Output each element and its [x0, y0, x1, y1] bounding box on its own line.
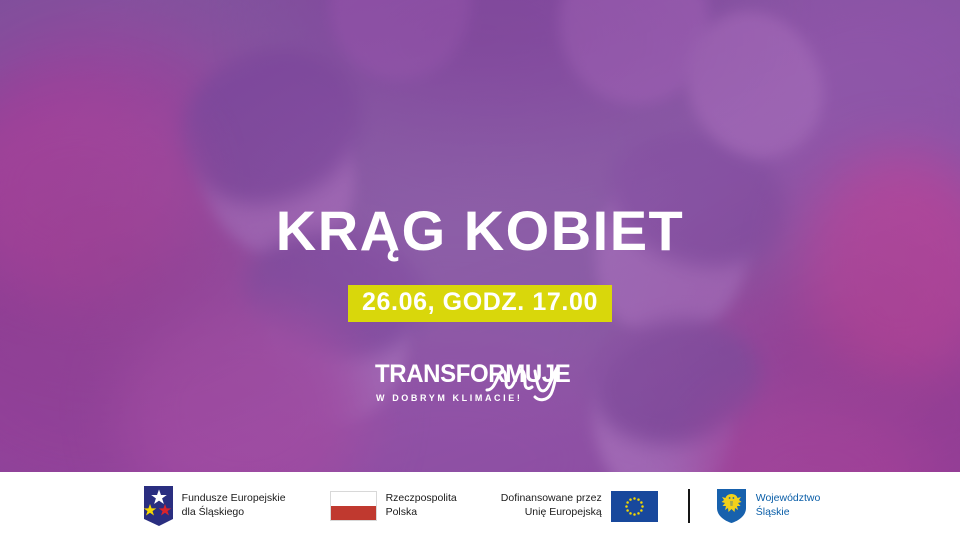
logo-line-1: Fundusze Europejskie — [182, 492, 286, 506]
footer-funding-bar: Fundusze Europejskie dla Śląskiego Rzecz… — [0, 472, 960, 540]
silesian-eagle-crest-icon — [716, 488, 747, 524]
fundusze-europejskie-stars-icon — [140, 486, 173, 526]
brand-tagline: W DOBRYM KLIMACIE! — [376, 393, 522, 403]
poland-flag-red-stripe — [331, 506, 376, 520]
logo-fundusze-europejskie: Fundusze Europejskie dla Śląskiego — [140, 486, 286, 526]
logo-rzeczpospolita-polska: Rzeczpospolita Polska — [330, 491, 457, 521]
logo-rzeczpospolita-polska-text: Rzeczpospolita Polska — [386, 492, 457, 520]
poland-flag-icon — [330, 491, 377, 521]
poland-flag-white-stripe — [331, 492, 376, 506]
event-poster: KRĄG KOBIET 26.06, GODZ. 17.00 TRANSFORM… — [0, 0, 960, 540]
logo-dofinansowane-ue-text: Dofinansowane przez Unię Europejską — [501, 492, 602, 520]
brand-wordmark: TRANSFORMUJE — [375, 362, 570, 387]
logo-wojewodztwo-slaskie: Województwo Śląskie — [716, 488, 821, 524]
poster-content: KRĄG KOBIET 26.06, GODZ. 17.00 TRANSFORM… — [0, 0, 960, 472]
date-time-badge: 26.06, GODZ. 17.00 — [348, 285, 612, 322]
logo-line-1: Województwo — [756, 492, 821, 506]
page-title: KRĄG KOBIET — [276, 203, 685, 259]
transformujemy-logo: TRANSFORMUJE W DOBRYM KLIMACIE! — [375, 360, 585, 412]
logo-dofinansowane-ue: Dofinansowane przez Unię Europejską — [501, 491, 658, 522]
footer-divider — [688, 489, 690, 523]
logo-wojewodztwo-slaskie-text: Województwo Śląskie — [756, 492, 821, 520]
logo-fundusze-europejskie-text: Fundusze Europejskie dla Śląskiego — [182, 492, 286, 520]
logo-line-1: Rzeczpospolita — [386, 492, 457, 506]
logo-line-2: Śląskie — [756, 506, 821, 520]
logo-line-1: Dofinansowane przez — [501, 492, 602, 506]
logo-line-2: Polska — [386, 506, 457, 520]
logo-line-2: dla Śląskiego — [182, 506, 286, 520]
logo-line-2: Unię Europejską — [501, 506, 602, 520]
eu-flag-icon — [611, 491, 658, 522]
